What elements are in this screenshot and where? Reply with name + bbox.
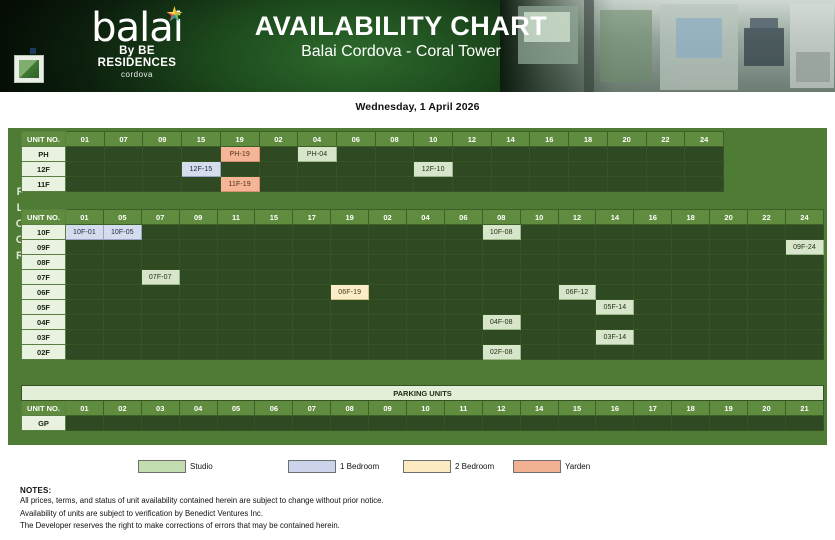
empty-cell (491, 162, 530, 177)
empty-cell (407, 330, 445, 345)
empty-cell (179, 345, 217, 360)
legend-item-bed2: 2 Bedroom (403, 460, 494, 473)
empty-cell (407, 300, 445, 315)
unit-cell-PH-04[interactable]: PH-04 (298, 147, 337, 162)
column-header-14: 14 (491, 132, 530, 147)
empty-cell (785, 225, 823, 240)
empty-cell (331, 240, 369, 255)
empty-cell (66, 240, 104, 255)
legend-label-bed1: 1 Bedroom (340, 462, 379, 471)
empty-cell (748, 345, 786, 360)
column-header-17: 17 (293, 210, 331, 225)
empty-cell (369, 285, 407, 300)
empty-cell (672, 330, 710, 345)
empty-cell (255, 330, 293, 345)
unit-cell-10F-05[interactable]: 10F-05 (103, 225, 141, 240)
empty-cell (444, 225, 482, 240)
column-header-22: 22 (646, 132, 685, 147)
floors-availability-table: UNIT NO.01050709111517190204060810121416… (21, 209, 824, 360)
empty-cell (217, 315, 255, 330)
empty-cell (558, 240, 596, 255)
row-header-10F: 10F (22, 225, 66, 240)
empty-cell (331, 416, 369, 431)
empty-cell (710, 270, 748, 285)
empty-cell (369, 315, 407, 330)
empty-cell (336, 147, 375, 162)
availability-panel: FLOOR UNIT NO.01070915190204060810121416… (8, 128, 827, 445)
empty-cell (407, 255, 445, 270)
empty-cell (444, 416, 482, 431)
empty-cell (255, 225, 293, 240)
empty-cell (331, 345, 369, 360)
empty-cell (103, 345, 141, 360)
empty-cell (179, 285, 217, 300)
brand-location: cordova (78, 70, 196, 79)
empty-cell (141, 416, 179, 431)
empty-cell (255, 240, 293, 255)
empty-cell (179, 315, 217, 330)
column-header-11: 11 (217, 210, 255, 225)
empty-cell (331, 315, 369, 330)
unit-cell-10F-08[interactable]: 10F-08 (482, 225, 520, 240)
empty-cell (141, 300, 179, 315)
empty-cell (259, 177, 298, 192)
empty-cell (217, 285, 255, 300)
column-header-12: 12 (453, 132, 492, 147)
empty-cell (407, 315, 445, 330)
empty-cell (220, 162, 259, 177)
empty-cell (530, 162, 569, 177)
empty-cell (179, 330, 217, 345)
empty-cell (482, 330, 520, 345)
empty-cell (179, 416, 217, 431)
empty-cell (607, 177, 646, 192)
empty-cell (520, 255, 558, 270)
empty-cell (66, 345, 104, 360)
empty-cell (141, 345, 179, 360)
empty-cell (143, 177, 182, 192)
empty-cell (672, 416, 710, 431)
column-header-17: 17 (634, 401, 672, 416)
empty-cell (685, 162, 724, 177)
empty-cell (444, 345, 482, 360)
empty-cell (646, 177, 685, 192)
column-header-10: 10 (407, 401, 445, 416)
page-subtitle: Balai Cordova - Coral Tower (236, 42, 566, 62)
empty-cell (369, 225, 407, 240)
empty-cell (596, 225, 634, 240)
empty-cell (293, 345, 331, 360)
notes-line: All prices, terms, and status of unit av… (20, 495, 720, 508)
empty-cell (298, 177, 337, 192)
table-row: 03F03F-14 (22, 330, 824, 345)
empty-cell (710, 225, 748, 240)
column-header-01: 01 (66, 401, 104, 416)
column-header-20: 20 (607, 132, 646, 147)
legend-swatch-bed2 (403, 460, 451, 473)
column-header-11: 11 (444, 401, 482, 416)
empty-cell (444, 285, 482, 300)
empty-cell (331, 330, 369, 345)
parking-availability-table: PARKING UNITSUNIT NO.0102030405060708091… (21, 385, 824, 431)
column-header-12: 12 (558, 210, 596, 225)
table-row: 05F05F-14 (22, 300, 824, 315)
column-header-19: 19 (331, 210, 369, 225)
empty-cell (369, 345, 407, 360)
column-header-unit-no: UNIT NO. (22, 210, 66, 225)
empty-cell (710, 240, 748, 255)
empty-cell (607, 147, 646, 162)
row-header-07F: 07F (22, 270, 66, 285)
unit-cell-09F-24[interactable]: 09F-24 (785, 240, 823, 255)
empty-cell (482, 416, 520, 431)
empty-cell (143, 162, 182, 177)
empty-cell (217, 255, 255, 270)
empty-cell (298, 162, 337, 177)
notes-heading: NOTES: (20, 486, 720, 495)
column-header-03: 03 (141, 401, 179, 416)
column-header-08: 08 (482, 210, 520, 225)
column-header-02: 02 (369, 210, 407, 225)
empty-cell (596, 240, 634, 255)
page-title: AVAILABILITY CHART (236, 11, 566, 41)
unit-cell-PH-19[interactable]: PH-19 (220, 147, 259, 162)
table-row: GP (22, 416, 824, 431)
empty-cell (259, 147, 298, 162)
empty-cell (491, 147, 530, 162)
empty-cell (672, 285, 710, 300)
notes-line: The Developer reserves the right to make… (20, 520, 720, 533)
unit-cell-05F-14[interactable]: 05F-14 (596, 300, 634, 315)
empty-cell (520, 240, 558, 255)
empty-cell (141, 285, 179, 300)
empty-cell (530, 177, 569, 192)
empty-cell (634, 255, 672, 270)
empty-cell (179, 300, 217, 315)
empty-cell (66, 255, 104, 270)
row-header-PH: PH (22, 147, 66, 162)
empty-cell (634, 285, 672, 300)
unit-cell-03F-14[interactable]: 03F-14 (596, 330, 634, 345)
empty-cell (785, 416, 823, 431)
empty-cell (255, 416, 293, 431)
column-header-24: 24 (685, 132, 724, 147)
table-row: 02F02F-08 (22, 345, 824, 360)
row-header-08F: 08F (22, 255, 66, 270)
empty-cell (748, 315, 786, 330)
legend-label-yarden: Yarden (565, 462, 590, 471)
empty-cell (217, 240, 255, 255)
table-row: 12F12F-1512F-10 (22, 162, 724, 177)
empty-cell (336, 162, 375, 177)
unit-cell-12F-15[interactable]: 12F-15 (182, 162, 221, 177)
empty-cell (634, 330, 672, 345)
unit-cell-06F-12[interactable]: 06F-12 (558, 285, 596, 300)
column-header-02: 02 (259, 132, 298, 147)
column-header-06: 06 (444, 210, 482, 225)
empty-cell (520, 345, 558, 360)
empty-cell (520, 416, 558, 431)
empty-cell (748, 240, 786, 255)
empty-cell (520, 225, 558, 240)
empty-cell (104, 162, 143, 177)
empty-cell (414, 147, 453, 162)
table-row: 08F (22, 255, 824, 270)
column-header-18: 18 (672, 401, 710, 416)
empty-cell (685, 147, 724, 162)
column-header-07: 07 (104, 132, 143, 147)
table-row: PHPH-19PH-04 (22, 147, 724, 162)
empty-cell (444, 315, 482, 330)
empty-cell (748, 285, 786, 300)
column-header-09: 09 (179, 210, 217, 225)
column-header-16: 16 (530, 132, 569, 147)
column-header-24: 24 (785, 210, 823, 225)
empty-cell (369, 330, 407, 345)
empty-cell (785, 300, 823, 315)
table-header-row: UNIT NO.01020304050607080910111214151617… (22, 401, 824, 416)
legend-swatch-yarden (513, 460, 561, 473)
empty-cell (293, 240, 331, 255)
empty-cell (748, 225, 786, 240)
page-banner: balai By BE RESIDENCES cordova AVAILABIL… (0, 0, 835, 92)
table-header-row: UNIT NO.01050709111517190204060810121416… (22, 210, 824, 225)
empty-cell (520, 330, 558, 345)
unit-type-legend: Studio1 Bedroom2 BedroomYarden (8, 455, 827, 477)
row-header-GP: GP (22, 416, 66, 431)
empty-cell (103, 285, 141, 300)
column-header-15: 15 (182, 132, 221, 147)
empty-cell (596, 416, 634, 431)
row-header-12F: 12F (22, 162, 66, 177)
unit-cell-10F-01[interactable]: 10F-01 (66, 225, 104, 240)
empty-cell (453, 177, 492, 192)
table-row: 11F11F-19 (22, 177, 724, 192)
empty-cell (179, 225, 217, 240)
empty-cell (710, 416, 748, 431)
empty-cell (141, 255, 179, 270)
column-header-15: 15 (558, 401, 596, 416)
empty-cell (672, 240, 710, 255)
column-header-04: 04 (179, 401, 217, 416)
empty-cell (672, 300, 710, 315)
empty-cell (414, 177, 453, 192)
empty-cell (558, 315, 596, 330)
empty-cell (375, 177, 414, 192)
empty-cell (336, 177, 375, 192)
legend-swatch-bed1 (288, 460, 336, 473)
column-header-08: 08 (375, 132, 414, 147)
row-header-05F: 05F (22, 300, 66, 315)
empty-cell (293, 330, 331, 345)
empty-cell (104, 147, 143, 162)
empty-cell (569, 147, 608, 162)
row-header-11F: 11F (22, 177, 66, 192)
empty-cell (141, 330, 179, 345)
table-row: 10F10F-0110F-0510F-08 (22, 225, 824, 240)
empty-cell (217, 270, 255, 285)
row-header-03F: 03F (22, 330, 66, 345)
empty-cell (634, 300, 672, 315)
table-row: 04F04F-08 (22, 315, 824, 330)
empty-cell (331, 255, 369, 270)
legend-item-yarden: Yarden (513, 460, 590, 473)
empty-cell (217, 330, 255, 345)
empty-cell (103, 330, 141, 345)
empty-cell (255, 315, 293, 330)
column-header-20: 20 (748, 401, 786, 416)
column-header-18: 18 (569, 132, 608, 147)
empty-cell (444, 330, 482, 345)
empty-cell (685, 177, 724, 192)
legend-item-studio: Studio (138, 460, 213, 473)
empty-cell (141, 240, 179, 255)
column-header-16: 16 (596, 401, 634, 416)
empty-cell (66, 285, 104, 300)
empty-cell (785, 270, 823, 285)
empty-cell (453, 162, 492, 177)
column-header-10: 10 (520, 210, 558, 225)
column-header-10: 10 (414, 132, 453, 147)
notes-line: Availability of units are subject to ver… (20, 508, 720, 521)
empty-cell (596, 315, 634, 330)
column-header-22: 22 (748, 210, 786, 225)
column-header-19: 19 (710, 401, 748, 416)
empty-cell (482, 285, 520, 300)
empty-cell (407, 240, 445, 255)
empty-cell (182, 147, 221, 162)
empty-cell (748, 270, 786, 285)
chart-date: Wednesday, 1 April 2026 (0, 101, 835, 113)
column-header-07: 07 (293, 401, 331, 416)
unit-cell-04F-08[interactable]: 04F-08 (482, 315, 520, 330)
column-header-14: 14 (596, 210, 634, 225)
table-row: 06F06F-1906F-12 (22, 285, 824, 300)
empty-cell (293, 255, 331, 270)
unit-cell-12F-10[interactable]: 12F-10 (414, 162, 453, 177)
empty-cell (482, 300, 520, 315)
column-header-12: 12 (482, 401, 520, 416)
empty-cell (491, 177, 530, 192)
unit-cell-02F-08[interactable]: 02F-08 (482, 345, 520, 360)
empty-cell (569, 162, 608, 177)
legend-label-studio: Studio (190, 462, 213, 471)
empty-cell (103, 270, 141, 285)
empty-cell (710, 315, 748, 330)
empty-cell (596, 285, 634, 300)
row-header-04F: 04F (22, 315, 66, 330)
column-header-15: 15 (255, 210, 293, 225)
empty-cell (66, 300, 104, 315)
table-row: 07F07F-07 (22, 270, 824, 285)
empty-cell (369, 240, 407, 255)
empty-cell (520, 315, 558, 330)
empty-cell (634, 315, 672, 330)
empty-cell (520, 300, 558, 315)
empty-cell (748, 416, 786, 431)
empty-cell (607, 162, 646, 177)
empty-cell (596, 345, 634, 360)
column-header-unit-no: UNIT NO. (22, 401, 66, 416)
empty-cell (293, 300, 331, 315)
empty-cell (103, 255, 141, 270)
empty-cell (785, 345, 823, 360)
empty-cell (530, 147, 569, 162)
empty-cell (255, 270, 293, 285)
empty-cell (710, 255, 748, 270)
empty-cell (66, 270, 104, 285)
empty-cell (672, 270, 710, 285)
table-row: 09F09F-24 (22, 240, 824, 255)
column-header-16: 16 (634, 210, 672, 225)
empty-cell (407, 225, 445, 240)
empty-cell (710, 330, 748, 345)
empty-cell (331, 300, 369, 315)
empty-cell (66, 162, 105, 177)
empty-cell (369, 270, 407, 285)
empty-cell (179, 270, 217, 285)
empty-cell (293, 315, 331, 330)
column-header-20: 20 (710, 210, 748, 225)
column-header-21: 21 (785, 401, 823, 416)
empty-cell (672, 255, 710, 270)
column-header-09: 09 (369, 401, 407, 416)
empty-cell (375, 147, 414, 162)
empty-cell (558, 330, 596, 345)
empty-cell (255, 285, 293, 300)
empty-cell (748, 330, 786, 345)
empty-cell (453, 147, 492, 162)
empty-cell (255, 255, 293, 270)
parking-units-title: PARKING UNITS (22, 386, 824, 401)
column-header-14: 14 (520, 401, 558, 416)
empty-cell (558, 270, 596, 285)
unit-cell-11F-19[interactable]: 11F-19 (220, 177, 259, 192)
empty-cell (217, 300, 255, 315)
empty-cell (710, 300, 748, 315)
unit-cell-06F-19[interactable]: 06F-19 (331, 285, 369, 300)
empty-cell (331, 270, 369, 285)
column-header-04: 04 (407, 210, 445, 225)
empty-cell (66, 147, 105, 162)
empty-cell (179, 255, 217, 270)
empty-cell (103, 416, 141, 431)
empty-cell (331, 225, 369, 240)
empty-cell (217, 225, 255, 240)
unit-cell-07F-07[interactable]: 07F-07 (141, 270, 179, 285)
empty-cell (141, 315, 179, 330)
empty-cell (520, 285, 558, 300)
empty-cell (634, 345, 672, 360)
empty-cell (646, 162, 685, 177)
empty-cell (375, 162, 414, 177)
empty-cell (672, 345, 710, 360)
empty-cell (104, 177, 143, 192)
empty-cell (710, 345, 748, 360)
empty-cell (66, 330, 104, 345)
empty-cell (558, 416, 596, 431)
row-header-06F: 06F (22, 285, 66, 300)
empty-cell (182, 177, 221, 192)
column-header-18: 18 (672, 210, 710, 225)
empty-cell (293, 416, 331, 431)
column-header-01: 01 (66, 210, 104, 225)
empty-cell (748, 300, 786, 315)
empty-cell (66, 177, 105, 192)
empty-cell (748, 255, 786, 270)
row-header-09F: 09F (22, 240, 66, 255)
empty-cell (444, 300, 482, 315)
